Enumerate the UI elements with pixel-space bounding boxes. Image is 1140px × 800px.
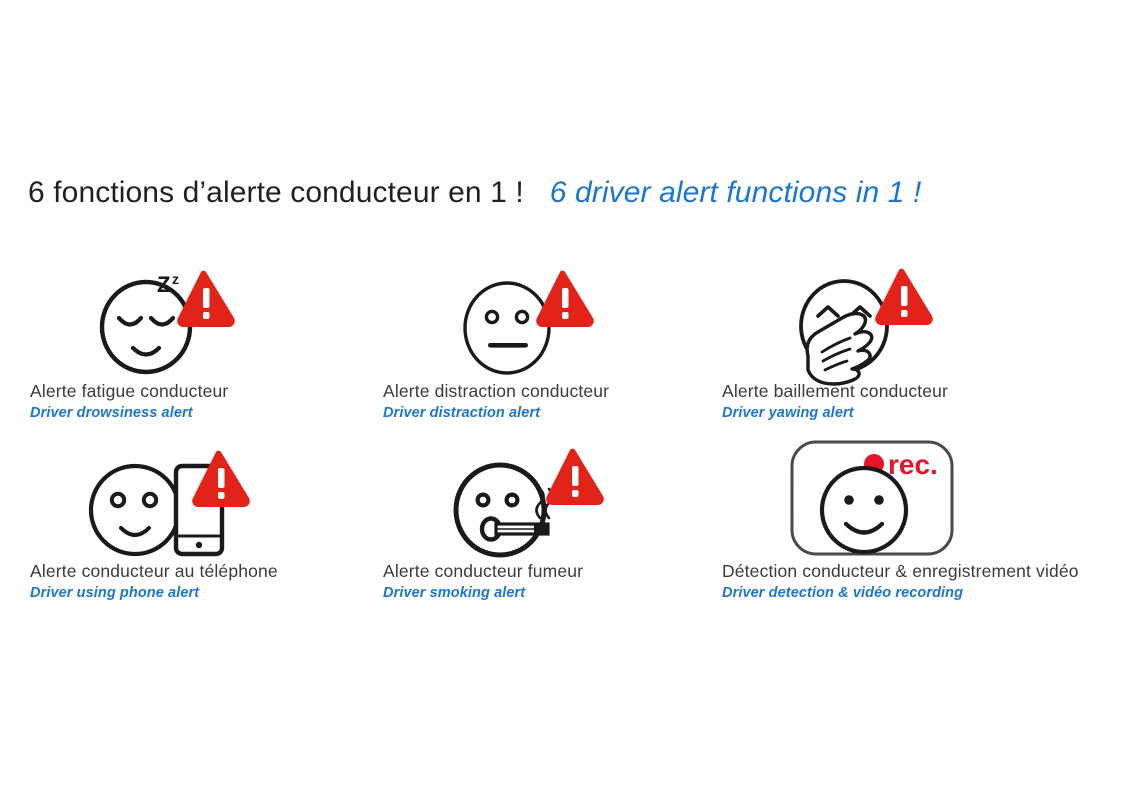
yawning-face-icon	[792, 260, 942, 380]
feature-labels: Détection conducteur & enregistrement vi…	[722, 560, 1079, 603]
svg-text:z: z	[172, 271, 179, 287]
video-recording-face-icon: rec.	[764, 432, 964, 562]
feature-row: Z z Alerte fatigue conducteur Driver dro…	[0, 258, 1140, 438]
alert-triangle-icon	[546, 449, 604, 505]
feature-grid: Z z Alerte fatigue conducteur Driver dro…	[0, 258, 1140, 618]
feature-label-en: Driver yawing alert	[722, 403, 948, 423]
neutral-face-icon	[455, 260, 605, 380]
alert-triangle-icon	[177, 271, 235, 327]
sleeping-face-icon: Z z	[88, 260, 238, 380]
feature-labels: Alerte conducteur au téléphone Driver us…	[30, 560, 278, 603]
rec-label: rec.	[888, 449, 938, 480]
feature-label-en: Driver detection & vidéo recording	[722, 583, 1079, 603]
feature-label-fr: Alerte fatigue conducteur	[30, 380, 228, 402]
feature-row: Alerte conducteur au téléphone Driver us…	[0, 438, 1140, 618]
smoking-face-icon	[448, 438, 608, 558]
face-with-phone-icon	[80, 438, 240, 558]
alert-triangle-icon	[875, 269, 933, 325]
feature-label-fr: Alerte baillement conducteur	[722, 380, 948, 402]
feature-label-en: Driver smoking alert	[383, 583, 583, 603]
page-title: 6 fonctions d’alerte conducteur en 1 !6 …	[28, 176, 921, 210]
feature-label-en: Driver drowsiness alert	[30, 403, 228, 423]
feature-label-fr: Alerte conducteur fumeur	[383, 560, 583, 582]
feature-label-fr: Alerte distraction conducteur	[383, 380, 609, 402]
feature-label-fr: Alerte conducteur au téléphone	[30, 560, 278, 582]
feature-labels: Alerte baillement conducteur Driver yawi…	[722, 380, 948, 423]
feature-labels: Alerte conducteur fumeur Driver smoking …	[383, 560, 583, 603]
feature-labels: Alerte distraction conducteur Driver dis…	[383, 380, 609, 423]
feature-labels: Alerte fatigue conducteur Driver drowsin…	[30, 380, 228, 423]
feature-label-fr: Détection conducteur & enregistrement vi…	[722, 560, 1079, 582]
alert-triangle-icon	[536, 271, 594, 327]
page-title-en: 6 driver alert functions in 1 !	[550, 176, 922, 209]
svg-text:Z: Z	[157, 272, 170, 297]
feature-label-en: Driver distraction alert	[383, 403, 609, 423]
feature-label-en: Driver using phone alert	[30, 583, 278, 603]
page-title-fr: 6 fonctions d’alerte conducteur en 1 !	[28, 176, 524, 209]
